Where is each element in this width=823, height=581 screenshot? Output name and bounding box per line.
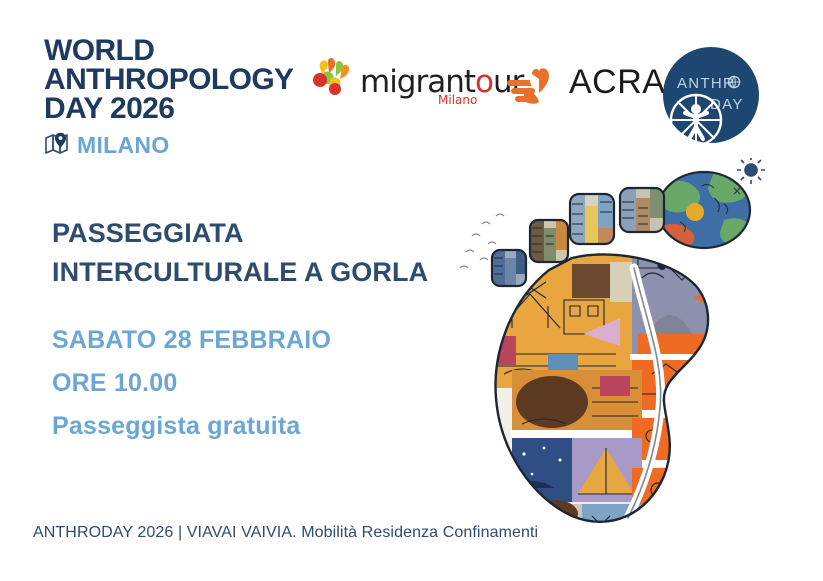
virus-speck-icon [737, 158, 765, 184]
migrantour-word-o: o [475, 64, 493, 100]
wad-title-line3: DAY 2026 [44, 94, 294, 123]
map-pin-icon [44, 132, 70, 159]
event-details: SABATO 28 FEBBRAIO ORE 10.00 Passeggista… [52, 319, 482, 448]
event-date: SABATO 28 FEBBRAIO [52, 319, 482, 362]
acra-wordmark: ACRA [569, 63, 665, 102]
footprint-toe-globe [652, 166, 762, 258]
poster-canvas: WORLD ANTHROPOLOGY DAY 2026 MILANO [0, 0, 823, 581]
logo-acra[interactable]: ACRA [505, 56, 650, 118]
headline-line1: PASSEGGIATA [52, 214, 482, 253]
footer-text: ANTHRODAY 2026 | VIAVAI VAIVIA. Mobilità… [33, 524, 538, 542]
page-title: PASSEGGIATA INTERCULTURALE A GORLA [52, 214, 482, 292]
logo-migrantour[interactable]: migrantour Milano [308, 52, 498, 114]
poster-footer: ANTHRODAY 2026 | VIAVAI VAIVIA. Mobilità… [33, 524, 538, 542]
event-time: ORE 10.00 [52, 362, 482, 405]
footprint-sole-panels [482, 248, 742, 530]
wad-city-label: MILANO [77, 132, 170, 159]
wad-title-line2: ANTHROPOLOGY [44, 65, 294, 94]
poster-copy: PASSEGGIATA INTERCULTURALE A GORLA SABAT… [52, 214, 482, 448]
headline-line2: INTERCULTURALE A GORLA [52, 253, 482, 292]
wad-title: WORLD ANTHROPOLOGY DAY 2026 [44, 36, 294, 123]
event-price: Passeggista gratuita [52, 405, 482, 448]
illustrated-footprint-artwork [452, 158, 782, 530]
wad-title-line1: WORLD [44, 36, 294, 65]
poster-header: WORLD ANTHROPOLOGY DAY 2026 MILANO [0, 0, 823, 165]
logo-anthroday[interactable]: ANTHR DAY [663, 47, 759, 143]
world-anthropology-day-lockup: WORLD ANTHROPOLOGY DAY 2026 MILANO [44, 36, 294, 159]
wad-city-row: MILANO [44, 132, 294, 159]
migrantour-subtitle: Milano [438, 93, 477, 107]
